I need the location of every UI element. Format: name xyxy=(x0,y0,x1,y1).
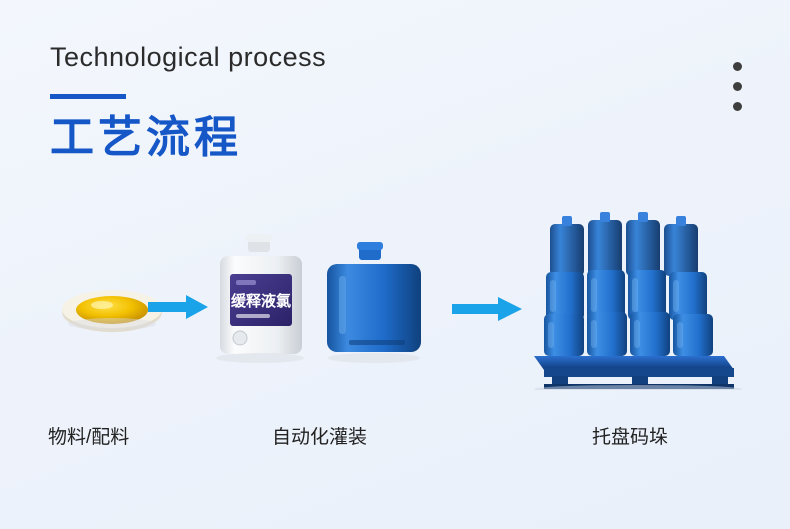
dot-icon xyxy=(733,102,742,111)
decorative-dots xyxy=(733,62,742,111)
header-block: Technological process 工艺流程 xyxy=(50,42,326,164)
pallet-icon xyxy=(534,356,734,389)
stacked-drums-pallet-icon xyxy=(528,210,748,390)
process-infographic: Technological process 工艺流程 xyxy=(0,0,790,529)
caption-raw-material: 物料/配料 xyxy=(48,422,129,449)
dot-icon xyxy=(733,82,742,91)
caption-pallet-stacking: 托盘码垛 xyxy=(592,422,668,449)
can-label-text: 缓释液氯 xyxy=(231,292,291,310)
arrow-1-icon xyxy=(148,295,208,319)
dot-icon xyxy=(733,62,742,71)
blue-jerrycan-icon xyxy=(325,240,435,370)
page-title-english: Technological process xyxy=(50,42,326,73)
step-white-jerrycan-image: 缓释液氯 xyxy=(210,230,320,370)
step-pallet-stacking-image xyxy=(528,210,748,390)
process-flow: 缓释液氯 xyxy=(0,205,790,395)
arrow-2-icon xyxy=(452,297,522,321)
caption-automatic-filling: 自动化灌装 xyxy=(272,422,367,449)
title-divider xyxy=(50,94,126,99)
white-jerrycan-icon: 缓释液氯 xyxy=(210,230,320,370)
step-blue-jerrycan-image xyxy=(325,240,435,370)
page-title-chinese: 工艺流程 xyxy=(50,113,326,164)
